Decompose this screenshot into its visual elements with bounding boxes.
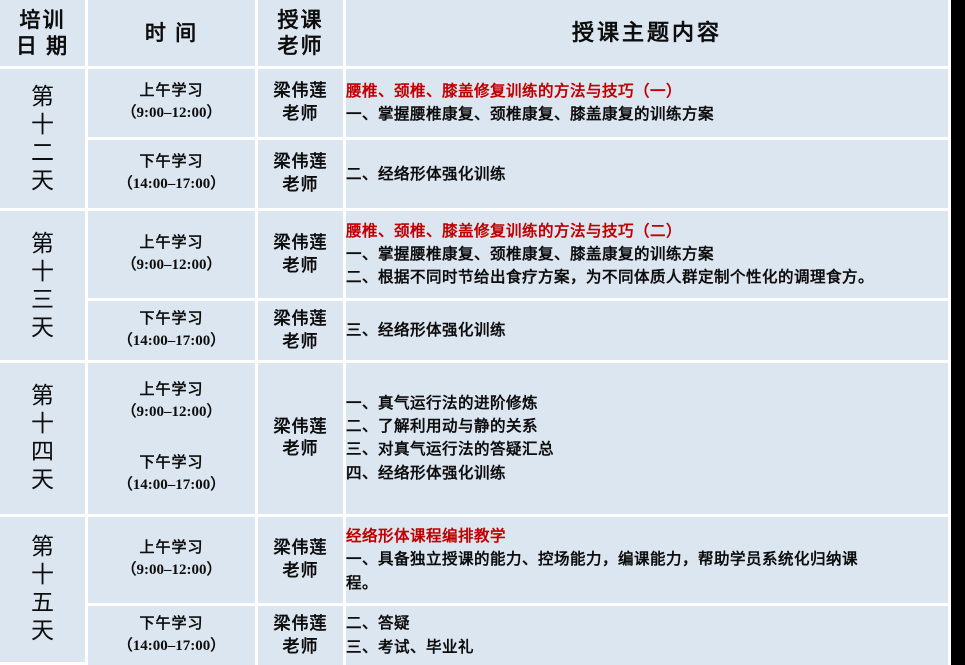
session-time-range: （9:00–12:00）	[88, 103, 255, 125]
training-day-char: 天	[0, 167, 85, 195]
session-time-label: 上午学习	[88, 380, 255, 402]
session-topic: 二、经络形体强化训练	[346, 140, 951, 211]
session-topic: 腰椎、颈椎、膝盖修复训练的方法与技巧（一）一、掌握腰椎康复、颈椎康复、膝盖康复的…	[346, 69, 951, 140]
table-row: 下午学习（14:00–17:00）梁伟莲老师二、经络形体强化训练	[0, 140, 951, 211]
table-row: 第十五天上午学习（9:00–12:00）梁伟莲老师经络形体课程编排教学一、具备独…	[0, 517, 951, 607]
training-day-char: 第	[0, 230, 85, 258]
session-time-range: （14:00–17:00）	[88, 174, 255, 196]
session-topic-line: 二、了解利用动与静的关系	[346, 415, 948, 438]
session-teacher: 梁伟莲老师	[258, 211, 346, 301]
session-time: 上午学习（9:00–12:00）	[88, 517, 258, 607]
table-row: 第十三天上午学习（9:00–12:00）梁伟莲老师腰椎、颈椎、膝盖修复训练的方法…	[0, 211, 951, 301]
session-teacher-line: 老师	[258, 560, 343, 583]
session-topic-line: 一、真气运行法的进阶修炼	[346, 392, 948, 415]
training-day-char: 第	[0, 382, 85, 410]
training-day-char: 天	[0, 617, 85, 645]
session-time-label: 下午学习	[88, 152, 255, 174]
session-teacher-line: 梁伟莲	[258, 151, 343, 174]
session-time-range: （14:00–17:00）	[88, 331, 255, 353]
training-day-char: 天	[0, 314, 85, 342]
session-teacher: 梁伟莲老师	[258, 606, 346, 665]
column-header-teacher-line: 老师	[258, 33, 343, 59]
session-teacher-line: 老师	[258, 174, 343, 197]
session-teacher-line: 老师	[258, 103, 343, 126]
session-teacher-line: 老师	[258, 331, 343, 354]
table-row: 下午学习（14:00–17:00）梁伟莲老师三、经络形体强化训练	[0, 301, 951, 363]
column-header-time: 时 间	[88, 0, 258, 69]
session-teacher-line: 梁伟莲	[258, 232, 343, 255]
training-day-char: 第	[0, 533, 85, 561]
session-time-block: 下午学习（14:00–17:00）	[88, 612, 255, 660]
session-time: 下午学习（14:00–17:00）	[88, 140, 258, 211]
session-time-block: 下午学习（14:00–17:00）	[88, 150, 255, 198]
session-time: 上午学习（9:00–12:00）下午学习（14:00–17:00）	[88, 363, 258, 516]
column-header-topic: 授课主题内容	[346, 0, 951, 69]
training-day-char: 第	[0, 83, 85, 111]
session-teacher-line: 梁伟莲	[258, 80, 343, 103]
session-time-label: 上午学习	[88, 233, 255, 255]
session-time-label: 下午学习	[88, 614, 255, 636]
session-time-range: （9:00–12:00）	[88, 560, 255, 582]
column-header-teacher-line: 授课	[258, 7, 343, 33]
session-time-block: 下午学习（14:00–17:00）	[88, 451, 255, 499]
table-row: 下午学习（14:00–17:00）梁伟莲老师二、答疑三、考试、毕业礼	[0, 606, 951, 665]
session-time-block: 上午学习（9:00–12:00）	[88, 378, 255, 426]
session-topic-line: 二、答疑	[346, 612, 948, 635]
training-day-char: 五	[0, 589, 85, 617]
session-topic-line: 二、根据不同时节给出食疗方案，为不同体质人群定制个性化的调理食方。	[346, 266, 948, 289]
training-day-label: 第十四天	[0, 363, 88, 516]
session-time-label: 上午学习	[88, 81, 255, 103]
session-topic-line: 四、经络形体强化训练	[346, 462, 948, 485]
training-day-char: 四	[0, 438, 85, 466]
session-time-range: （14:00–17:00）	[88, 636, 255, 658]
training-day-char: 十	[0, 258, 85, 286]
session-time: 上午学习（9:00–12:00）	[88, 211, 258, 301]
session-topic-title: 腰椎、颈椎、膝盖修复训练的方法与技巧（二）	[346, 220, 948, 243]
session-time-label: 下午学习	[88, 309, 255, 331]
table-row: 第十四天上午学习（9:00–12:00）下午学习（14:00–17:00）梁伟莲…	[0, 363, 951, 516]
training-day-label: 第十五天	[0, 517, 88, 665]
training-day-char: 十	[0, 561, 85, 589]
session-time: 下午学习（14:00–17:00）	[88, 301, 258, 363]
session-topic: 经络形体课程编排教学一、具备独立授课的能力、控场能力，编课能力，帮助学员系统化归…	[346, 517, 951, 607]
session-teacher-line: 老师	[258, 255, 343, 278]
session-time-block: 上午学习（9:00–12:00）	[88, 231, 255, 279]
table-body: 第十二天上午学习（9:00–12:00）梁伟莲老师腰椎、颈椎、膝盖修复训练的方法…	[0, 69, 951, 665]
session-teacher-line: 梁伟莲	[258, 613, 343, 636]
training-day-char: 十	[0, 410, 85, 438]
session-teacher-line: 梁伟莲	[258, 308, 343, 331]
header-row: 培训日 期时 间授课老师授课主题内容	[0, 0, 951, 69]
session-teacher: 梁伟莲老师	[258, 517, 346, 607]
session-time-block: 上午学习（9:00–12:00）	[88, 536, 255, 584]
table-header: 培训日 期时 间授课老师授课主题内容	[0, 0, 951, 69]
session-topic: 一、真气运行法的进阶修炼二、了解利用动与静的关系三、对真气运行法的答疑汇总四、经…	[346, 363, 951, 516]
session-time-label: 下午学习	[88, 453, 255, 475]
session-topic-title: 经络形体课程编排教学	[346, 525, 948, 548]
training-day-vertical-text: 第十三天	[0, 230, 85, 342]
session-topic-line: 一、具备独立授课的能力、控场能力，编课能力，帮助学员系统化归纳课	[346, 548, 948, 571]
session-topic: 三、经络形体强化训练	[346, 301, 951, 363]
session-topic-line: 三、考试、毕业礼	[346, 636, 948, 659]
session-topic-line: 程。	[346, 572, 948, 595]
training-day-label: 第十二天	[0, 69, 88, 211]
training-day-label: 第十三天	[0, 211, 88, 363]
column-header-date: 培训日 期	[0, 0, 88, 69]
training-day-char: 十	[0, 111, 85, 139]
training-day-char: 天	[0, 466, 85, 494]
table-row: 第十二天上午学习（9:00–12:00）梁伟莲老师腰椎、颈椎、膝盖修复训练的方法…	[0, 69, 951, 140]
session-time-range: （14:00–17:00）	[88, 475, 255, 497]
training-day-vertical-text: 第十四天	[0, 382, 85, 494]
session-teacher: 梁伟莲老师	[258, 363, 346, 516]
session-topic-title: 腰椎、颈椎、膝盖修复训练的方法与技巧（一）	[346, 80, 948, 103]
training-day-vertical-text: 第十二天	[0, 83, 85, 195]
session-topic-line: 一、掌握腰椎康复、颈椎康复、膝盖康复的训练方案	[346, 243, 948, 266]
column-header-teacher: 授课老师	[258, 0, 346, 69]
session-teacher-line: 梁伟莲	[258, 537, 343, 560]
session-teacher-line: 老师	[258, 438, 343, 461]
session-topic-line: 三、对真气运行法的答疑汇总	[346, 438, 948, 461]
session-teacher-line: 梁伟莲	[258, 416, 343, 439]
session-time: 上午学习（9:00–12:00）	[88, 69, 258, 140]
training-day-char: 二	[0, 139, 85, 167]
session-topic-line: 二、经络形体强化训练	[346, 163, 948, 186]
session-teacher: 梁伟莲老师	[258, 69, 346, 140]
session-time-range: （9:00–12:00）	[88, 402, 255, 424]
session-time: 下午学习（14:00–17:00）	[88, 606, 258, 665]
session-topic-line: 一、掌握腰椎康复、颈椎康复、膝盖康复的训练方案	[346, 103, 948, 126]
session-topic-line: 三、经络形体强化训练	[346, 319, 948, 342]
training-schedule-table: 培训日 期时 间授课老师授课主题内容 第十二天上午学习（9:00–12:00）梁…	[0, 0, 951, 665]
column-header-topic-line: 授课主题内容	[346, 19, 948, 47]
column-header-time-line: 时 间	[88, 20, 255, 46]
session-teacher-line: 老师	[258, 636, 343, 659]
session-time-range: （9:00–12:00）	[88, 255, 255, 277]
session-time-block: 下午学习（14:00–17:00）	[88, 307, 255, 355]
session-topic: 二、答疑三、考试、毕业礼	[346, 606, 951, 665]
session-topic: 腰椎、颈椎、膝盖修复训练的方法与技巧（二）一、掌握腰椎康复、颈椎康复、膝盖康复的…	[346, 211, 951, 301]
session-teacher: 梁伟莲老师	[258, 301, 346, 363]
training-day-char: 三	[0, 286, 85, 314]
column-header-date-line: 培训	[0, 7, 85, 33]
column-header-date-line: 日 期	[0, 33, 85, 59]
session-teacher: 梁伟莲老师	[258, 140, 346, 211]
training-day-vertical-text: 第十五天	[0, 533, 85, 645]
session-time-label: 上午学习	[88, 538, 255, 560]
session-time-block: 上午学习（9:00–12:00）	[88, 79, 255, 127]
